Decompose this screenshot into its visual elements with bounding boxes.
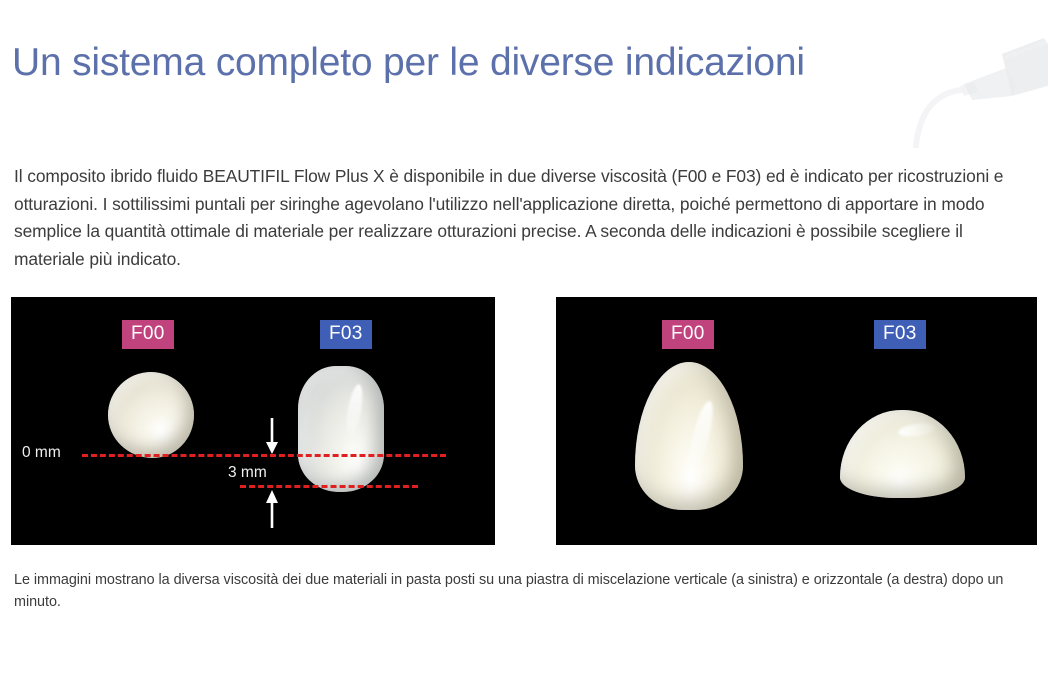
page-root: Un sistema completo per le diverse indic…: [0, 0, 1048, 698]
page-title: Un sistema completo per le diverse indic…: [12, 40, 805, 86]
label-chip-right-f00: F00: [662, 320, 714, 349]
scale-label-0mm: 0 mm: [22, 444, 61, 462]
down-arrow-icon: [262, 418, 282, 459]
label-chip-right-f03: F03: [874, 320, 926, 349]
figure-caption: Le immagini mostrano la diversa viscosit…: [14, 569, 1036, 613]
paste-blob-left-f00: [108, 372, 194, 458]
label-chip-left-f00: F00: [122, 320, 174, 349]
figure-right-horizontal-plate: [556, 297, 1037, 545]
label-chip-left-f03: F03: [320, 320, 372, 349]
figure-left-vertical-plate: [11, 297, 495, 545]
reference-line-3mm: [240, 485, 418, 488]
up-arrow-icon: [262, 490, 282, 533]
intro-paragraph: Il composito ibrido fluido BEAUTIFIL Flo…: [14, 163, 1036, 273]
paste-blob-left-f03: [298, 366, 384, 492]
scale-label-3mm: 3 mm: [228, 464, 267, 482]
syringe-tip-icon: [894, 28, 1048, 148]
